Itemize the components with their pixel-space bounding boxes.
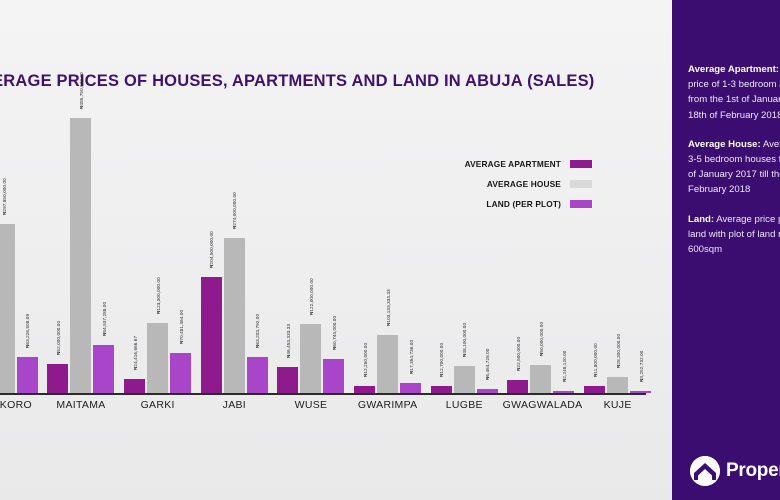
bar-value-label: ₦12,700,000.00 [439,343,444,377]
bar-column[interactable]: ₦63,226,508.09 [17,110,38,393]
bar-value-label: ₦17,354,736.00 [409,340,414,374]
bar-group: ₦22,500,000.00₦50,000,000.00₦2,248,120.0… [503,110,580,393]
bar-column[interactable]: ₦48,100,000.00 [454,110,475,393]
bar[interactable] [201,277,222,393]
bar-value-label: ₦103,133,333.33 [386,289,391,326]
bar-column[interactable]: ₦11,800,000.00 [584,110,605,393]
bar[interactable] [47,364,68,393]
bar-column[interactable]: ₦6,464,728.00 [477,110,498,393]
bar-value-label: ₦46,453,333.33 [286,324,291,358]
bar[interactable] [584,386,605,393]
bar[interactable] [431,386,452,393]
bar-value-label: ₦3,252,732.00 [639,351,644,382]
bar-column[interactable]: ₦485,750,000.00 [70,110,91,393]
bar-column[interactable]: ₦28,300,000.00 [607,110,628,393]
bar[interactable] [553,391,574,393]
bar-value-label: ₦50,000,000.00 [539,322,544,356]
bar-column[interactable]: ₦2,248,120.00 [553,110,574,393]
house-roof-icon [690,456,720,486]
sidebar-heading-land: Land: [688,214,714,225]
bar-value-label: ₦6,464,728.00 [485,349,490,380]
bar-column[interactable]: ₦46,453,333.33 [277,110,298,393]
infographic-root: AVERAGE PRICES OF HOUSES, APARTMENTS AND… [0,0,780,500]
bar-column[interactable]: ₦123,300,000.00 [147,110,168,393]
bar-column[interactable]: ₦3,252,732.00 [630,110,651,393]
bar-value-label: ₦22,500,000.00 [516,337,521,371]
bar-column[interactable]: ₦274,000,000.00 [224,110,245,393]
bar-group: ₦24,416,666.67₦123,300,000.00₦70,481,464… [119,110,196,393]
x-axis-line [0,393,646,395]
bar-column[interactable]: ₦63,203,792.00 [247,110,268,393]
bar-value-label: ₦204,500,000.00 [209,232,214,269]
bar[interactable] [247,357,268,393]
bar-value-label: ₦122,000,000.00 [309,278,314,315]
bar-group: ₦52,000,000.00₦485,750,000.00₦84,537,288… [43,110,120,393]
bar[interactable] [93,345,114,393]
bar-value-label: ₦24,416,666.67 [133,336,138,370]
chart-plot-area: ₦297,850,000.00₦63,226,508.09₦52,000,000… [0,110,656,395]
sidebar-heading-house: Average House: [688,139,761,150]
bar[interactable] [400,383,421,393]
bar-value-label: ₦28,300,000.00 [616,334,621,368]
bar[interactable] [277,367,298,393]
bar-column[interactable]: ₦12,700,000.00 [431,110,452,393]
bar[interactable] [224,238,245,393]
x-axis-tick-label: MAITAMA [43,399,120,411]
x-axis-tick-label: JABI [196,399,273,411]
bar[interactable] [507,380,528,393]
bar-group: ₦11,800,000.00₦28,300,000.00₦3,252,732.0… [579,110,656,393]
bar-column[interactable]: ₦52,000,000.00 [47,110,68,393]
bar-column[interactable]: ₦60,744,000.00 [323,110,344,393]
bar-group: ₦204,500,000.00₦274,000,000.00₦63,203,79… [196,110,273,393]
x-axis-tick-label: GARKI [119,399,196,411]
sidebar-heading-apartment: Average Apartment: [688,64,779,75]
sidebar-paragraph-land: Land: Average price per plot of land wit… [688,212,780,258]
bar[interactable] [354,386,375,393]
bar-group: ₦46,453,333.33₦122,000,000.00₦60,744,000… [273,110,350,393]
bar-value-label: ₦63,203,792.00 [255,314,260,348]
bar-column[interactable]: ₦122,000,000.00 [300,110,321,393]
bar-group: ₦12,250,000.00₦103,133,333.33₦17,354,736… [349,110,426,393]
bar-column[interactable]: ₦17,354,736.00 [400,110,421,393]
bar-column[interactable]: ₦70,481,464.00 [170,110,191,393]
bar-value-label: ₦84,537,288.00 [102,302,107,336]
bar-column[interactable]: ₦12,250,000.00 [354,110,375,393]
bar[interactable] [0,224,15,393]
bar-value-label: ₦12,250,000.00 [363,343,368,377]
bar-value-label: ₦70,481,464.00 [179,310,184,344]
x-axis-labels: ASOKOROMAITAMAGARKIJABIWUSEGWARIMPALUGBE… [0,399,656,423]
bar[interactable] [70,118,91,393]
bar[interactable] [124,379,145,393]
bar[interactable] [147,323,168,393]
x-axis-tick-label: LUGBE [426,399,503,411]
x-axis-tick-label: KUJE [579,399,656,411]
bar-column[interactable]: ₦22,500,000.00 [507,110,528,393]
bar-column[interactable]: ₦103,133,333.33 [377,110,398,393]
bar-value-label: ₦60,744,000.00 [332,316,337,350]
bar[interactable] [300,324,321,393]
x-axis-tick-label: GWARIMPA [349,399,426,411]
description-sidebar: Average Apartment: Average price of 1-3 … [672,0,780,500]
bar-value-label: ₦485,750,000.00 [79,72,84,109]
bar[interactable] [323,359,344,393]
bar-value-label: ₦11,800,000.00 [593,344,598,378]
brand-logo[interactable]: PropertyPro [690,456,780,486]
bar-group: ₦12,700,000.00₦48,100,000.00₦6,464,728.0… [426,110,503,393]
bar-group: ₦297,850,000.00₦63,226,508.09 [0,110,43,393]
bar[interactable] [17,357,38,393]
x-axis-tick-label: ASOKORO [0,399,43,411]
bar[interactable] [477,389,498,393]
bar-value-label: ₦123,300,000.00 [156,277,161,314]
bar-column[interactable]: ₦84,537,288.00 [93,110,114,393]
chart-panel: AVERAGE PRICES OF HOUSES, APARTMENTS AND… [0,0,672,500]
bar-value-label: ₦2,248,120.00 [562,351,567,382]
bar-column[interactable]: ₦50,000,000.00 [530,110,551,393]
bar[interactable] [607,377,628,393]
x-axis-tick-label: GWAGWALADA [503,399,580,411]
bar-value-label: ₦274,000,000.00 [232,192,237,229]
bar[interactable] [530,365,551,393]
bar-value-label: ₦48,100,000.00 [462,323,467,357]
bar[interactable] [377,335,398,393]
sidebar-text: Average Apartment: Average price of 1-3 … [688,62,780,271]
bar-value-label: ₦297,850,000.00 [2,179,7,216]
bar-value-label: ₦63,226,508.09 [25,314,30,348]
bar[interactable] [630,391,651,393]
sidebar-paragraph-house: Average House: Average price of 3-5 bedr… [688,137,780,198]
sidebar-paragraph-apartment: Average Apartment: Average price of 1-3 … [688,62,780,123]
bar-value-label: ₦52,000,000.00 [56,320,61,354]
bar[interactable] [170,353,191,393]
x-axis-tick-label: WUSE [273,399,350,411]
page-title: AVERAGE PRICES OF HOUSES, APARTMENTS AND… [0,72,620,91]
bar-column[interactable]: ₦297,850,000.00 [0,110,15,393]
bar[interactable] [454,366,475,393]
bar-column[interactable]: ₦204,500,000.00 [201,110,222,393]
bar-column[interactable]: ₦24,416,666.67 [124,110,145,393]
logo-text: PropertyPro [726,460,780,482]
